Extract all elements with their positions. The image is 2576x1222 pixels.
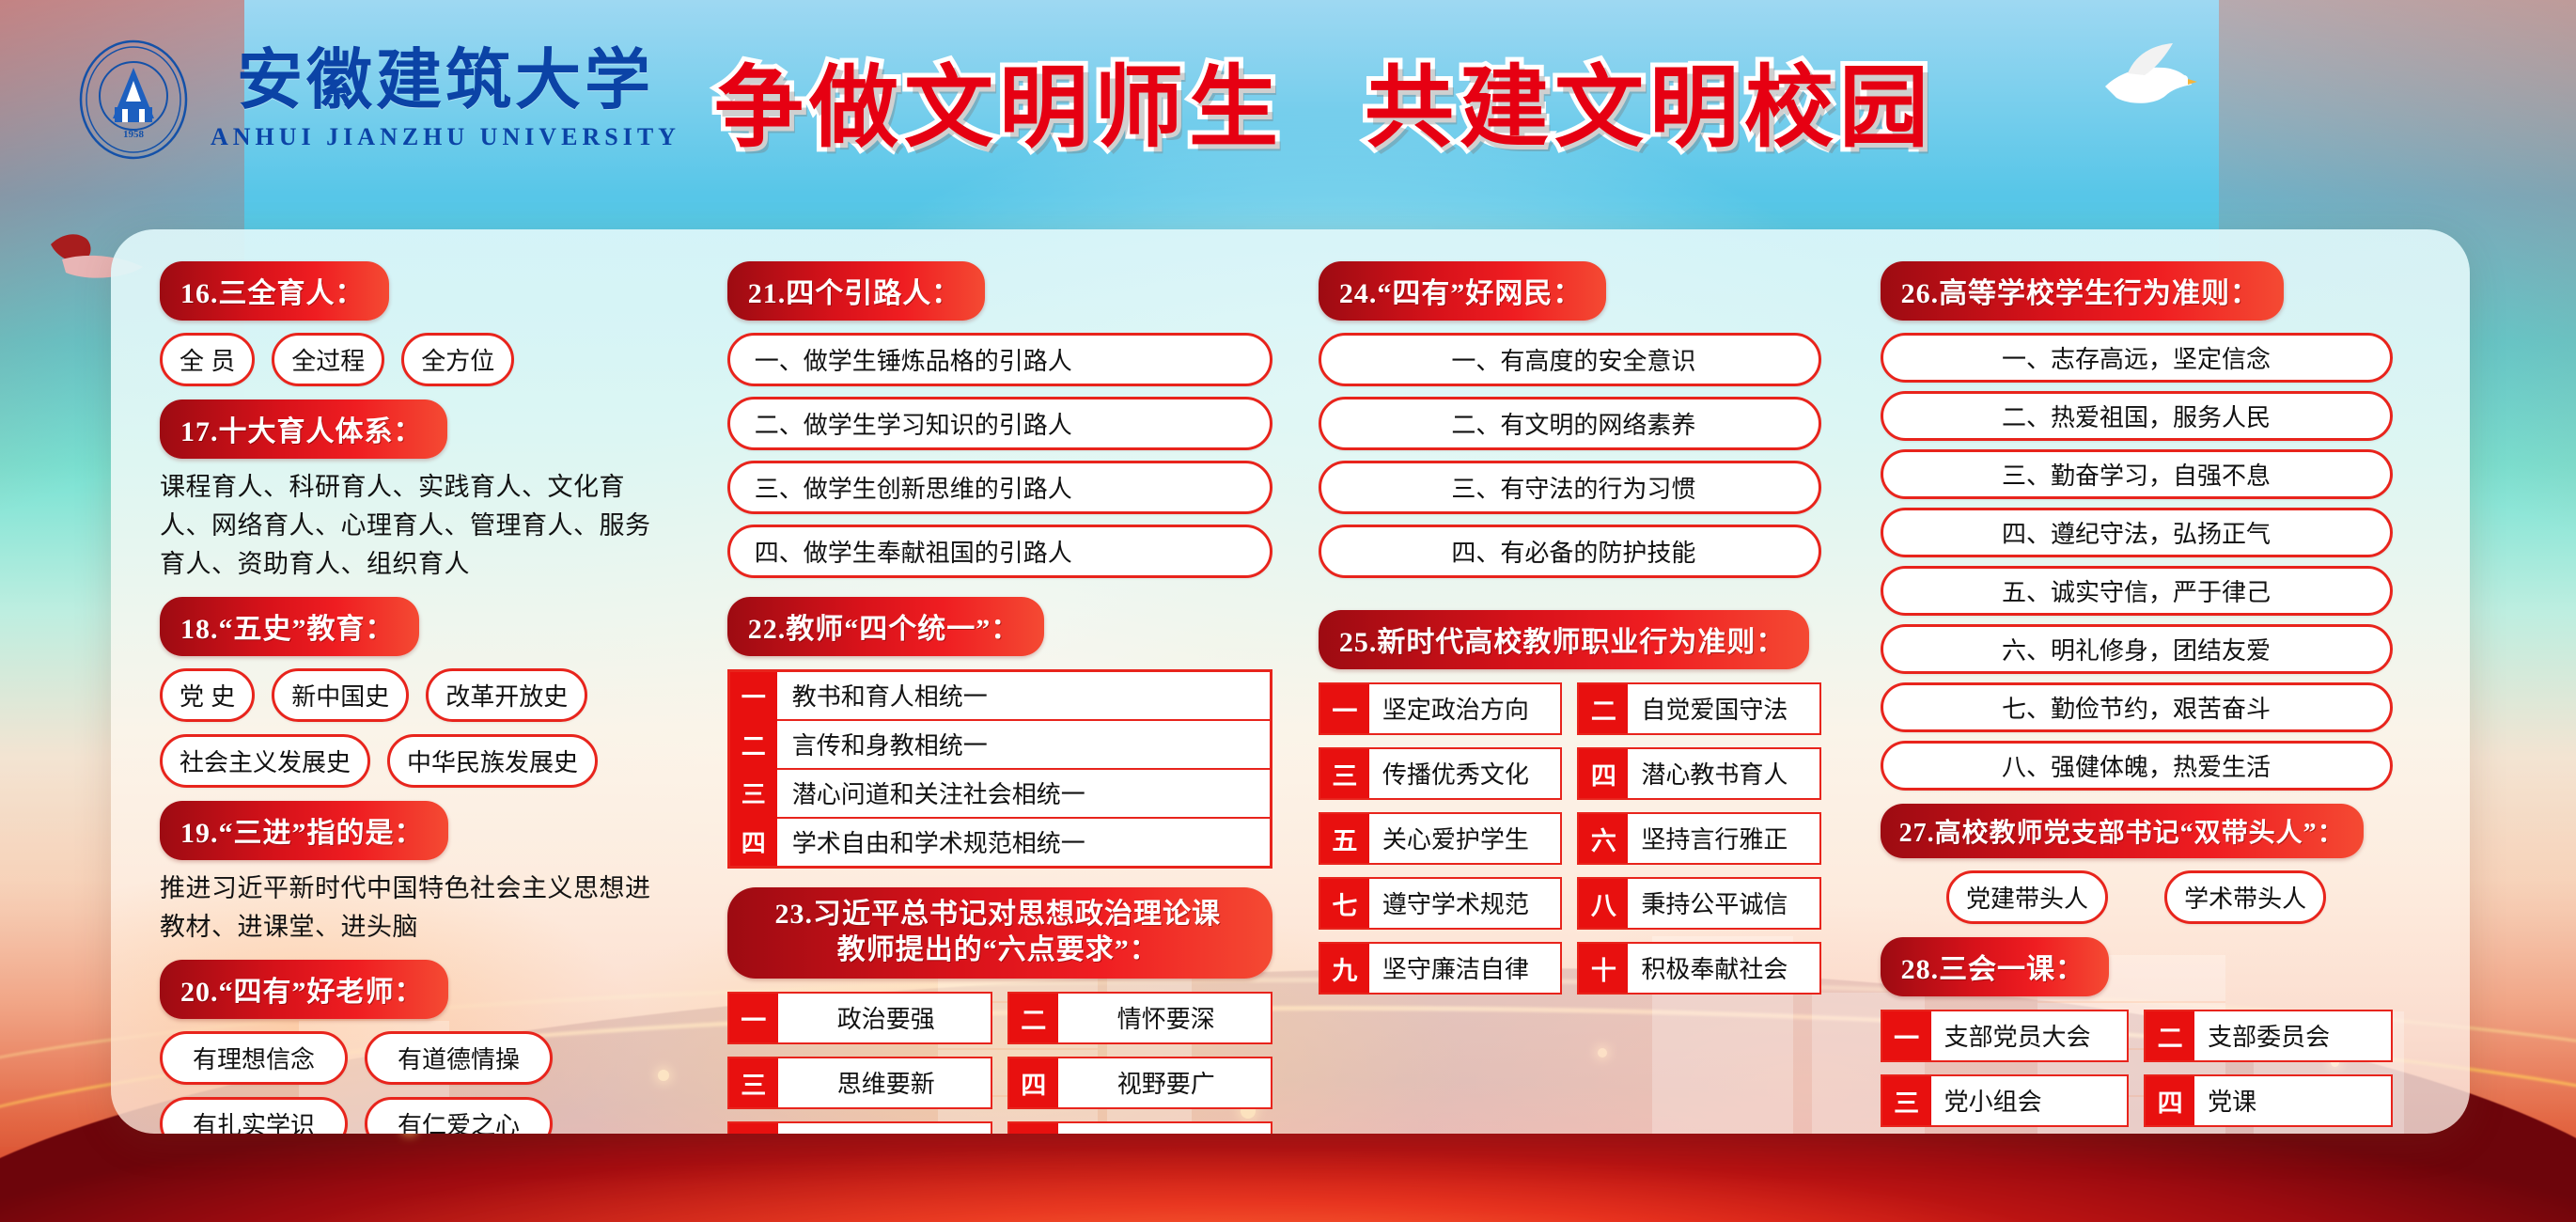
pill-youdaodeqingcao[interactable]: 有道德情操 xyxy=(365,1031,553,1085)
grid-cell[interactable]: 八 秉持公平诚信 xyxy=(1577,877,1821,930)
pill-youzhashixueshi[interactable]: 有扎实学识 xyxy=(160,1097,348,1134)
cell-text: 传播优秀文化 xyxy=(1369,749,1561,798)
table-row: 九 坚守廉洁自律 十 积极奉献社会 xyxy=(1319,942,1821,995)
list-item[interactable]: 一、有高度的安全意识 xyxy=(1319,333,1821,386)
section-28-title: 28.三会一课： xyxy=(1881,937,2110,996)
cell-number: 九 xyxy=(1320,944,1369,993)
content-panel: 16.三全育人： 全 员 全过程 全方位 17.十大育人体系： 课程育人、科研育… xyxy=(111,229,2470,1134)
grid-cell[interactable]: 七 遵守学术规范 xyxy=(1319,877,1563,930)
cell-number: 三 xyxy=(729,1058,778,1107)
section-22: 22.教师“四个统一”： 一 二 三 四 教书和育人相统一 言传和身教相统一 潜… xyxy=(727,597,1300,869)
cell-number: 五 xyxy=(729,1123,778,1134)
pill-shehuizhuyifazhanshi[interactable]: 社会主义发展史 xyxy=(160,734,370,788)
cell-text: 情怀要深 xyxy=(1058,994,1271,1042)
cell-number: 三 xyxy=(1320,749,1369,798)
sections-grid: 16.三全育人： 全 员 全过程 全方位 17.十大育人体系： 课程育人、科研育… xyxy=(111,229,2470,1134)
column-4: 26.高等学校学生行为准则： 一、志存高远，坚定信念 二、热爱祖国，服务人民 三… xyxy=(1871,261,2442,1113)
cell-number: 二 xyxy=(1009,994,1058,1042)
pill-youlixiangxinnian[interactable]: 有理想信念 xyxy=(160,1031,348,1085)
table-row: 三 思维要新 四 视野要广 xyxy=(727,1057,1272,1109)
grid-cell[interactable]: 一 坚定政治方向 xyxy=(1319,682,1563,735)
grid-cell[interactable]: 十 积极奉献社会 xyxy=(1577,942,1821,995)
section-16-title: 16.三全育人： xyxy=(160,261,389,321)
section-19-paragraph: 推进习近平新时代中国特色社会主义思想进教材、进课堂、进头脑 xyxy=(160,869,653,947)
column-1: 16.三全育人： 全 员 全过程 全方位 17.十大育人体系： 课程育人、科研育… xyxy=(139,261,710,1113)
headline-right: 共建文明校园 xyxy=(1365,36,1934,164)
section-27-pill-row: 党建带头人 学术带头人 xyxy=(1881,870,2393,924)
grid-cell[interactable]: 三 传播优秀文化 xyxy=(1319,747,1563,800)
section-21-title: 21.四个引路人： xyxy=(727,261,986,321)
spacer xyxy=(160,788,710,801)
university-name-cn: 安徽建筑大学 xyxy=(237,49,654,115)
section-22-table: 一 二 三 四 教书和育人相统一 言传和身教相统一 潜心问道和关注社会相统一 学… xyxy=(727,669,1272,869)
section-24-list: 一、有高度的安全意识 二、有文明的网络素养 三、有守法的行为习惯 四、有必备的防… xyxy=(1319,333,1821,578)
list-item[interactable]: 三、勤奋学习，自强不息 xyxy=(1881,449,2393,499)
section-16: 16.三全育人： 全 员 全过程 全方位 xyxy=(160,261,710,386)
table-row: 三 党小组会 四 党课 xyxy=(1881,1074,2393,1127)
section-17-paragraph: 课程育人、科研育人、实践育人、文化育人、网络育人、心理育人、管理育人、服务育人、… xyxy=(160,468,653,584)
section-24: 24.“四有”好网民： 一、有高度的安全意识 二、有文明的网络素养 三、有守法的… xyxy=(1319,261,1871,578)
section-20-pill-row-1: 有理想信念 有道德情操 xyxy=(160,1031,710,1085)
cell-text: 关心爱护学生 xyxy=(1369,814,1561,863)
table-row: 五 自律要严 六 人格要正 xyxy=(727,1121,1272,1134)
spacer xyxy=(160,947,710,960)
section-27-title: 27.高校教师党支部书记“双带头人”： xyxy=(1881,804,2364,858)
section-23-title: 23.习近平总书记对思想政治理论课 教师提出的“六点要求”： xyxy=(727,887,1272,979)
spacer xyxy=(1881,924,2442,937)
section-23-grid: 一 政治要强 二 情怀要深 三 思维要新 xyxy=(727,992,1272,1134)
list-item[interactable]: 三、做学生创新思维的引路人 xyxy=(727,461,1272,514)
section-19-title: 19.“三进”指的是： xyxy=(160,801,448,860)
list-item[interactable]: 八、强健体魄，热爱生活 xyxy=(1881,741,2393,791)
list-item[interactable]: 二、有文明的网络素养 xyxy=(1319,397,1821,450)
cell-text: 坚守廉洁自律 xyxy=(1369,944,1561,993)
row-number: 三 xyxy=(730,769,777,818)
spacer xyxy=(160,386,710,399)
spacer xyxy=(727,869,1300,887)
cell-text: 支部委员会 xyxy=(2194,1011,2391,1060)
cell-text: 人格要正 xyxy=(1058,1123,1271,1134)
section-17-title: 17.十大育人体系： xyxy=(160,399,447,459)
row-number: 二 xyxy=(730,721,777,770)
table-row[interactable]: 潜心问道和关注社会相统一 xyxy=(777,770,1270,819)
pill-quanguocheng[interactable]: 全过程 xyxy=(272,333,384,386)
cell-text: 潜心教书育人 xyxy=(1628,749,1819,798)
table-row: 一 支部党员大会 二 支部委员会 xyxy=(1881,1010,2393,1062)
list-item[interactable]: 四、有必备的防护技能 xyxy=(1319,525,1821,578)
pill-yourenaizhixin[interactable]: 有仁爱之心 xyxy=(365,1097,553,1134)
table-row: 五 关心爱护学生 六 坚持言行雅正 xyxy=(1319,812,1821,865)
cell-text: 视野要广 xyxy=(1058,1058,1271,1107)
table-row: 七 遵守学术规范 八 秉持公平诚信 xyxy=(1319,877,1821,930)
section-26: 26.高等学校学生行为准则： 一、志存高远，坚定信念 二、热爱祖国，服务人民 三… xyxy=(1881,261,2442,791)
list-item[interactable]: 一、志存高远，坚定信念 xyxy=(1881,333,2393,383)
cell-text: 思维要新 xyxy=(778,1058,991,1107)
section-21: 21.四个引路人： 一、做学生锤炼品格的引路人 二、做学生学习知识的引路人 三、… xyxy=(727,261,1300,578)
cell-text: 党小组会 xyxy=(1931,1076,2128,1125)
grid-cell[interactable]: 二 情怀要深 xyxy=(1007,992,1272,1044)
section-26-list: 一、志存高远，坚定信念 二、热爱祖国，服务人民 三、勤奋学习，自强不息 四、遵纪… xyxy=(1881,333,2393,791)
cell-number: 十 xyxy=(1579,944,1628,993)
section-26-title: 26.高等学校学生行为准则： xyxy=(1881,261,2285,321)
spacer xyxy=(727,578,1300,597)
poster-headline: 争做文明师生 共建文明校园 xyxy=(714,36,1934,164)
cell-text: 自律要严 xyxy=(778,1123,991,1134)
cell-text: 自觉爱国守法 xyxy=(1628,684,1819,733)
section-24-title: 24.“四有”好网民： xyxy=(1319,261,1607,321)
pill-xinzhongguoshi[interactable]: 新中国史 xyxy=(272,668,409,722)
cell-number: 四 xyxy=(2146,1076,2194,1125)
cell-number: 一 xyxy=(729,994,778,1042)
section-18-pill-row-2: 社会主义发展史 中华民族发展史 xyxy=(160,734,710,788)
section-19: 19.“三进”指的是： 推进习近平新时代中国特色社会主义思想进教材、进课堂、进头… xyxy=(160,801,710,947)
poster-header: 1958 安徽建筑大学 ANHUI JIANZHU UNIVERSITY 争做文… xyxy=(0,0,2576,233)
cell-number: 三 xyxy=(1882,1076,1931,1125)
grid-cell[interactable]: 二 支部委员会 xyxy=(2144,1010,2393,1062)
cell-number: 四 xyxy=(1009,1058,1058,1107)
cell-number: 一 xyxy=(1320,684,1369,733)
table-row[interactable]: 教书和育人相统一 xyxy=(777,672,1270,721)
column-2: 21.四个引路人： 一、做学生锤炼品格的引路人 二、做学生学习知识的引路人 三、… xyxy=(710,261,1300,1113)
pill-quanfangwei[interactable]: 全方位 xyxy=(401,333,514,386)
cell-text: 遵守学术规范 xyxy=(1369,879,1561,928)
section-25: 25.新时代高校教师职业行为准则： 一 坚定政治方向 二 自觉爱国守法 xyxy=(1319,610,1871,995)
list-item[interactable]: 二、做学生学习知识的引路人 xyxy=(727,397,1272,450)
section-25-title: 25.新时代高校教师职业行为准则： xyxy=(1319,610,1810,669)
pill-dangshi[interactable]: 党 史 xyxy=(160,668,255,722)
section-18-title: 18.“五史”教育： xyxy=(160,597,419,656)
cell-number: 二 xyxy=(2146,1011,2194,1060)
grid-cell[interactable]: 九 坚守廉洁自律 xyxy=(1319,942,1563,995)
pill-quanyuan[interactable]: 全 员 xyxy=(160,333,255,386)
grid-cell[interactable]: 三 思维要新 xyxy=(727,1057,992,1109)
cell-text: 政治要强 xyxy=(778,994,991,1042)
cell-number: 八 xyxy=(1579,879,1628,928)
pill-gaigekaifangshi[interactable]: 改革开放史 xyxy=(426,668,587,722)
list-item[interactable]: 四、遵纪守法，弘扬正气 xyxy=(1881,508,2393,557)
table-row: 一 坚定政治方向 二 自觉爱国守法 xyxy=(1319,682,1821,735)
grid-cell[interactable]: 六 人格要正 xyxy=(1007,1121,1272,1134)
cell-text: 坚持言行雅正 xyxy=(1628,814,1819,863)
grid-cell[interactable]: 五 关心爱护学生 xyxy=(1319,812,1563,865)
cell-number: 一 xyxy=(1882,1011,1931,1060)
cell-number: 二 xyxy=(1579,684,1628,733)
cell-text: 秉持公平诚信 xyxy=(1628,879,1819,928)
cell-number: 六 xyxy=(1579,814,1628,863)
grid-cell[interactable]: 五 自律要严 xyxy=(727,1121,992,1134)
poster-canvas: 1958 安徽建筑大学 ANHUI JIANZHU UNIVERSITY 争做文… xyxy=(0,0,2576,1222)
grid-cell[interactable]: 四 党课 xyxy=(2144,1074,2393,1127)
university-crest-icon: 1958 xyxy=(73,39,194,160)
headline-left: 争做文明师生 xyxy=(714,36,1284,164)
pill-zhonghuaminzufazhanshi[interactable]: 中华民族发展史 xyxy=(387,734,598,788)
cell-text: 党课 xyxy=(2194,1076,2391,1125)
spacer xyxy=(1881,791,2442,804)
section-25-grid: 一 坚定政治方向 二 自觉爱国守法 三 传播优秀文化 xyxy=(1319,682,1821,995)
cell-text: 坚定政治方向 xyxy=(1369,684,1561,733)
section-23-title-line-2: 教师提出的“六点要求”： xyxy=(748,932,1248,968)
list-item[interactable]: 一、做学生锤炼品格的引路人 xyxy=(727,333,1272,386)
section-16-pill-row: 全 员 全过程 全方位 xyxy=(160,333,710,386)
pill-xueshudaitouren[interactable]: 学术带头人 xyxy=(2164,870,2326,924)
section-21-list: 一、做学生锤炼品格的引路人 二、做学生学习知识的引路人 三、做学生创新思维的引路… xyxy=(727,333,1272,578)
row-number: 四 xyxy=(730,818,777,867)
spacer xyxy=(160,584,710,597)
grid-cell[interactable]: 三 党小组会 xyxy=(1881,1074,2130,1127)
row-number: 一 xyxy=(730,672,777,721)
section-22-number-column: 一 二 三 四 xyxy=(730,672,777,866)
table-row: 三 传播优秀文化 四 潜心教书育人 xyxy=(1319,747,1821,800)
section-27: 27.高校教师党支部书记“双带头人”： 党建带头人 学术带头人 xyxy=(1881,804,2442,924)
cell-text: 积极奉献社会 xyxy=(1628,944,1819,993)
table-row[interactable]: 学术自由和学术规范相统一 xyxy=(777,819,1270,866)
list-item[interactable]: 三、有守法的行为习惯 xyxy=(1319,461,1821,514)
table-row: 一 政治要强 二 情怀要深 xyxy=(727,992,1272,1044)
list-item[interactable]: 五、诚实守信，严于律己 xyxy=(1881,566,2393,616)
table-row[interactable]: 言传和身教相统一 xyxy=(777,721,1270,770)
cell-text: 支部党员大会 xyxy=(1931,1011,2128,1060)
spacer xyxy=(1319,578,1871,597)
grid-cell[interactable]: 一 支部党员大会 xyxy=(1881,1010,2130,1062)
section-22-title: 22.教师“四个统一”： xyxy=(727,597,1045,656)
svg-text:1958: 1958 xyxy=(123,129,145,140)
spacer xyxy=(1319,597,1871,610)
university-branding: 1958 安徽建筑大学 ANHUI JIANZHU UNIVERSITY xyxy=(73,39,680,160)
cell-number: 七 xyxy=(1320,879,1369,928)
list-item[interactable]: 四、做学生奉献祖国的引路人 xyxy=(727,525,1272,578)
section-20-title: 20.“四有”好老师： xyxy=(160,960,448,1019)
section-28: 28.三会一课： 一 支部党员大会 二 支部委员会 xyxy=(1881,937,2442,1127)
section-20-pill-row-2: 有扎实学识 有仁爱之心 xyxy=(160,1097,710,1134)
section-18-pill-row-1: 党 史 新中国史 改革开放史 xyxy=(160,668,710,722)
list-item[interactable]: 六、明礼修身，团结友爱 xyxy=(1881,624,2393,674)
section-20: 20.“四有”好老师： 有理想信念 有道德情操 有扎实学识 有仁爱之心 xyxy=(160,960,710,1134)
column-3: 24.“四有”好网民： 一、有高度的安全意识 二、有文明的网络素养 三、有守法的… xyxy=(1300,261,1871,1113)
university-name-en: ANHUI JIANZHU UNIVERSITY xyxy=(211,123,680,151)
cell-number: 六 xyxy=(1009,1123,1058,1134)
section-28-grid: 一 支部党员大会 二 支部委员会 三 党小组会 xyxy=(1881,1010,2393,1127)
grid-cell[interactable]: 四 潜心教书育人 xyxy=(1577,747,1821,800)
section-22-rows: 教书和育人相统一 言传和身教相统一 潜心问道和关注社会相统一 学术自由和学术规范… xyxy=(777,672,1270,866)
cell-number: 四 xyxy=(1579,749,1628,798)
section-17: 17.十大育人体系： 课程育人、科研育人、实践育人、文化育人、网络育人、心理育人… xyxy=(160,399,710,584)
list-item[interactable]: 七、勤俭节约，艰苦奋斗 xyxy=(1881,682,2393,732)
section-23-title-line-1: 23.习近平总书记对思想政治理论课 xyxy=(748,897,1248,932)
pill-dangjiandaitouren[interactable]: 党建带头人 xyxy=(1946,870,2108,924)
section-23: 23.习近平总书记对思想政治理论课 教师提出的“六点要求”： 一 政治要强 二 … xyxy=(727,887,1300,1134)
grid-cell[interactable]: 六 坚持言行雅正 xyxy=(1577,812,1821,865)
grid-cell[interactable]: 二 自觉爱国守法 xyxy=(1577,682,1821,735)
grid-cell[interactable]: 一 政治要强 xyxy=(727,992,992,1044)
list-item[interactable]: 二、热爱祖国，服务人民 xyxy=(1881,391,2393,441)
grid-cell[interactable]: 四 视野要广 xyxy=(1007,1057,1272,1109)
section-18: 18.“五史”教育： 党 史 新中国史 改革开放史 社会主义发展史 中华民族发展… xyxy=(160,597,710,788)
cell-number: 五 xyxy=(1320,814,1369,863)
